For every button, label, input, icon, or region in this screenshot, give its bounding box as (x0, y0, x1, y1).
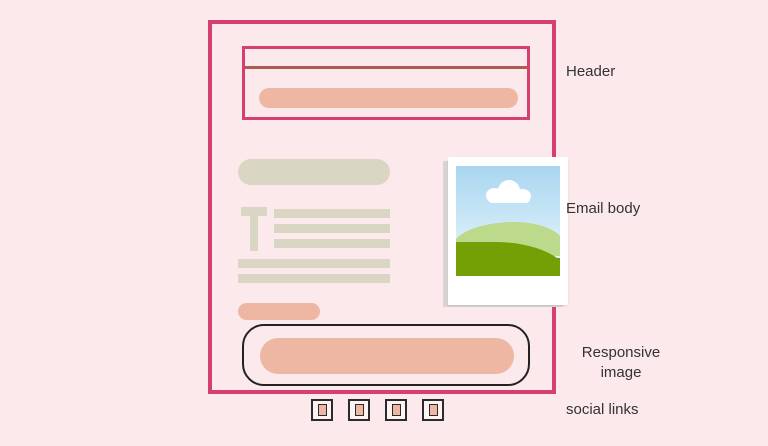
responsive-image-section[interactable] (242, 324, 530, 386)
text-line-placeholder (238, 259, 390, 268)
social-link-icon[interactable] (311, 399, 333, 421)
label-social-links: social links (566, 400, 639, 420)
header-banner-placeholder[interactable] (259, 88, 518, 108)
label-responsive-image: Responsive image (566, 343, 676, 383)
header-section[interactable] (242, 46, 530, 120)
dropcap-letter-t-icon (241, 207, 267, 251)
label-header: Header (566, 62, 615, 82)
social-link-icon[interactable] (385, 399, 407, 421)
cloud-icon (486, 180, 532, 202)
responsive-image-placeholder[interactable] (260, 338, 514, 374)
email-template-frame (208, 20, 556, 394)
label-email-body: Email body (566, 199, 640, 219)
photo-image (456, 166, 560, 276)
text-line-placeholder (274, 224, 390, 233)
social-links-row (311, 399, 444, 421)
diagram-canvas: Header Email body Responsive image socia… (0, 0, 768, 446)
email-body-section (238, 159, 530, 309)
text-line-placeholder (274, 209, 390, 218)
polaroid-photo-stack[interactable] (443, 157, 571, 309)
dropcap-stem (250, 216, 258, 251)
text-line-placeholder (238, 274, 390, 283)
social-link-icon[interactable] (422, 399, 444, 421)
divider-rule (245, 66, 527, 69)
cta-button-placeholder[interactable] (238, 303, 320, 320)
polaroid-frame (448, 157, 568, 305)
dropcap-crossbar (241, 207, 267, 216)
title-bar-placeholder[interactable] (238, 159, 390, 185)
text-line-placeholder (274, 239, 390, 248)
social-link-icon[interactable] (348, 399, 370, 421)
